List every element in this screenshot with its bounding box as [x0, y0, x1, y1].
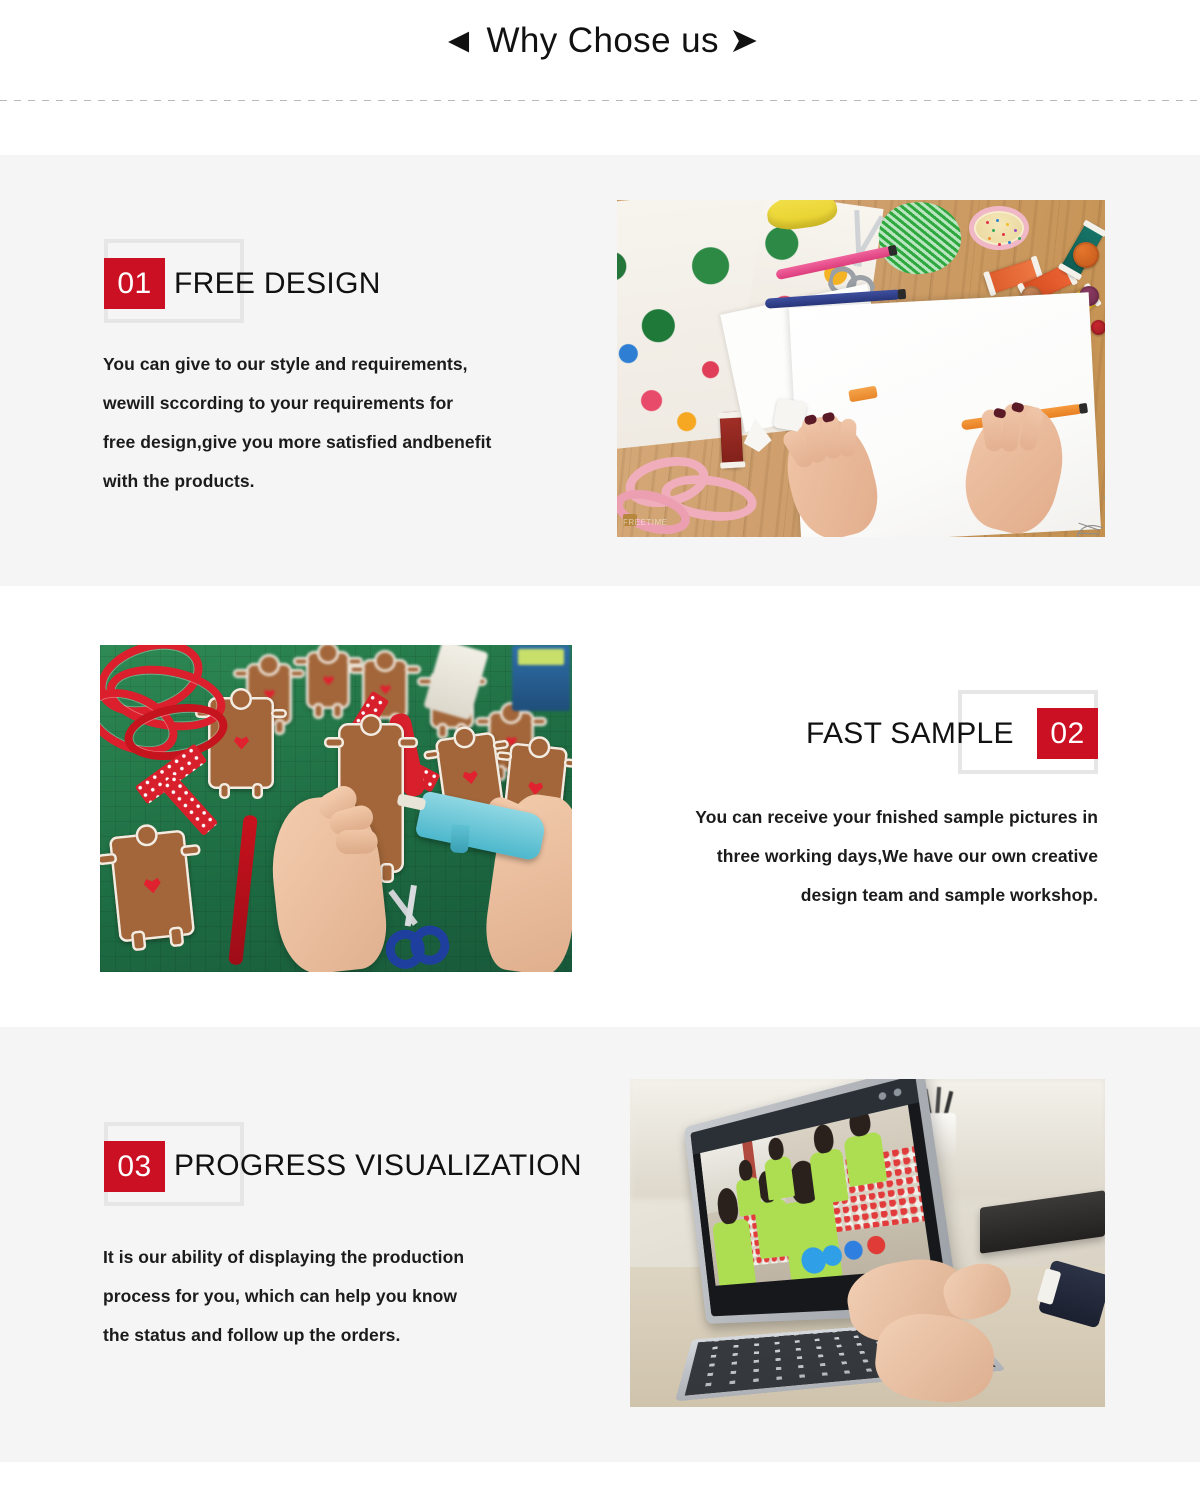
section-3-body-line: process for you, which can help you know — [103, 1277, 563, 1316]
why-choose-us-page: ◄ Why Chose us ➤ 01 FREE DESIGN You can … — [0, 0, 1200, 1492]
section-2-number-badge: 02 — [1037, 708, 1098, 759]
left-hand-holding — [265, 792, 391, 972]
section-2-body-line: design team and sample workshop. — [625, 876, 1098, 915]
button-orange — [1073, 242, 1099, 268]
section-2-body-line: You can receive your fnished sample pict… — [625, 798, 1098, 837]
footer-whitespace — [0, 1462, 1200, 1492]
section-1-body-line: free design,give you more satisfied andb… — [103, 423, 573, 462]
laptop-factory-video-call-photo — [630, 1079, 1105, 1407]
section-3-body-line: It is our ability of displaying the prod… — [103, 1238, 563, 1277]
worker — [736, 1177, 763, 1217]
page-title: ◄ Why Chose us ➤ — [0, 21, 1200, 61]
photo-watermark: FREETIME — [623, 518, 667, 527]
arrow-left-icon: ◄ — [441, 21, 476, 60]
section-1-body-line: You can give to our style and requiremen… — [103, 345, 573, 384]
craft-desk-sketching-photo: FREETIME — [617, 200, 1105, 537]
section-2-title: FAST SAMPLE — [806, 716, 1014, 752]
section-2-body: You can receive your fnished sample pict… — [625, 798, 1098, 915]
section-3-number-badge: 03 — [104, 1141, 165, 1192]
header-dashed-divider — [0, 100, 1200, 101]
page-title-text: Why Chose us — [486, 21, 718, 60]
section-1-body: You can give to our style and requiremen… — [103, 345, 573, 501]
gingerbread-ornament — [109, 829, 196, 942]
typing-hands — [848, 1261, 1098, 1407]
shirt-cuff — [1038, 1260, 1105, 1329]
section-1-number-badge: 01 — [104, 258, 165, 309]
section-1-body-line: wewill sccording to your requirements fo… — [103, 384, 573, 423]
felt-gingerbread-ornaments-photo — [100, 645, 572, 972]
button-red-2 — [1091, 320, 1105, 335]
section-3-body: It is our ability of displaying the prod… — [103, 1238, 563, 1355]
section-3-body-line: the status and follow up the orders. — [103, 1316, 563, 1355]
snowman-sketch — [1066, 464, 1105, 537]
arrow-right-icon: ➤ — [729, 21, 759, 60]
section-1-body-line: with the products. — [103, 462, 573, 501]
section-2-body-line: three working days,We have our own creat… — [625, 837, 1098, 876]
pin-cushion-bowl — [969, 206, 1029, 250]
page-header: ◄ Why Chose us ➤ — [0, 0, 1200, 100]
worker — [843, 1130, 888, 1187]
worker — [764, 1156, 795, 1201]
section-1-title: FREE DESIGN — [174, 266, 381, 302]
section-3-title: PROGRESS VISUALIZATION — [174, 1148, 582, 1184]
